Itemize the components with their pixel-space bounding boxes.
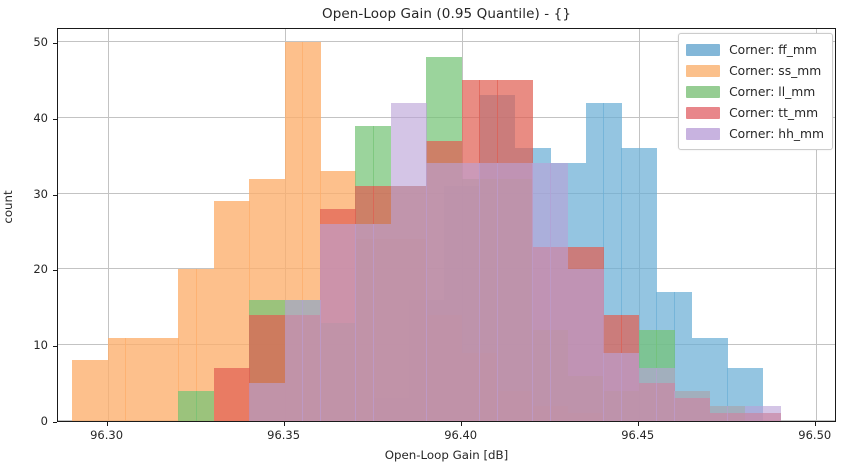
histogram-bar — [214, 368, 232, 421]
legend-swatch-icon — [686, 86, 720, 98]
y-tick — [53, 119, 57, 120]
legend-label: Corner: tt_mm — [729, 106, 818, 120]
histogram-bar — [674, 391, 692, 421]
x-tick-label: 96.40 — [426, 428, 496, 442]
legend-swatch-icon — [686, 44, 720, 56]
x-tick — [638, 422, 639, 426]
x-tick-label: 96.45 — [603, 428, 673, 442]
legend-item[interactable]: Corner: hh_mm — [686, 123, 824, 144]
histogram-bar — [462, 163, 480, 421]
histogram-bar — [267, 383, 285, 421]
y-tick-label: 20 — [4, 262, 48, 276]
legend-label: Corner: ff_mm — [729, 43, 817, 57]
y-axis-label: count — [1, 177, 15, 237]
histogram-bar — [196, 391, 214, 421]
y-tick — [53, 195, 57, 196]
histogram-bar — [232, 368, 250, 421]
histogram-bar — [586, 269, 604, 421]
y-tick — [53, 346, 57, 347]
histogram-bar — [497, 163, 515, 421]
histogram-bar — [320, 224, 338, 421]
histogram-bar — [568, 269, 586, 421]
histogram-bar — [621, 353, 639, 421]
legend-item[interactable]: Corner: ll_mm — [686, 81, 824, 102]
legend-item[interactable]: Corner: ff_mm — [686, 39, 824, 60]
legend-item[interactable]: Corner: tt_mm — [686, 102, 824, 123]
histogram-bar — [603, 353, 621, 421]
histogram-bar — [763, 406, 781, 421]
x-tick — [107, 422, 108, 426]
histogram-bar — [249, 383, 267, 421]
histogram-bar — [639, 368, 657, 421]
histogram-bar — [727, 406, 745, 421]
y-tick — [53, 43, 57, 44]
histogram-bar — [373, 224, 391, 421]
y-tick-label: 10 — [4, 338, 48, 352]
y-tick-label: 0 — [4, 414, 48, 428]
histogram-bar — [391, 103, 409, 421]
legend-swatch-icon — [686, 128, 720, 140]
histogram-bar — [338, 224, 356, 421]
histogram-bar — [161, 338, 179, 421]
histogram-bar — [409, 103, 427, 421]
legend-swatch-icon — [686, 65, 720, 77]
x-tick-label: 96.30 — [72, 428, 142, 442]
histogram-bar — [178, 391, 196, 421]
y-tick-label: 40 — [4, 111, 48, 125]
x-tick — [461, 422, 462, 426]
histogram-bar — [745, 406, 763, 421]
chart-title: Open-Loop Gain (0.95 Quantile) - {} — [57, 6, 836, 22]
histogram-bar — [710, 406, 728, 421]
histogram-bar — [143, 338, 161, 421]
histogram-bar — [426, 163, 444, 421]
x-axis-label: Open-Loop Gain [dB] — [57, 448, 836, 462]
legend-label: Corner: ss_mm — [729, 64, 821, 78]
histogram-bar — [90, 360, 108, 421]
histogram-bar — [125, 338, 143, 421]
legend-item[interactable]: Corner: ss_mm — [686, 60, 824, 81]
legend-swatch-icon — [686, 107, 720, 119]
y-tick — [53, 422, 57, 423]
histogram-bar — [72, 360, 90, 421]
histogram-bar — [355, 224, 373, 421]
histogram-bar — [656, 368, 674, 421]
legend-label: Corner: hh_mm — [729, 127, 824, 141]
figure: Open-Loop Gain (0.95 Quantile) - {} 0102… — [0, 0, 841, 470]
histogram-bar — [692, 391, 710, 421]
x-tick-label: 96.50 — [780, 428, 841, 442]
histogram-bar — [479, 163, 497, 421]
legend-label: Corner: ll_mm — [729, 85, 815, 99]
histogram-bar — [515, 163, 533, 421]
histogram-bar — [108, 338, 126, 421]
histogram-bar — [285, 300, 303, 421]
y-tick-label: 50 — [4, 35, 48, 49]
histogram-bar — [532, 163, 550, 421]
x-tick — [284, 422, 285, 426]
x-tick — [815, 422, 816, 426]
y-tick — [53, 270, 57, 271]
histogram-bar — [302, 300, 320, 421]
legend: Corner: ff_mmCorner: ss_mmCorner: ll_mmC… — [678, 33, 833, 150]
histogram-bar — [550, 163, 568, 421]
histogram-bar — [444, 163, 462, 421]
x-tick-label: 96.35 — [249, 428, 319, 442]
